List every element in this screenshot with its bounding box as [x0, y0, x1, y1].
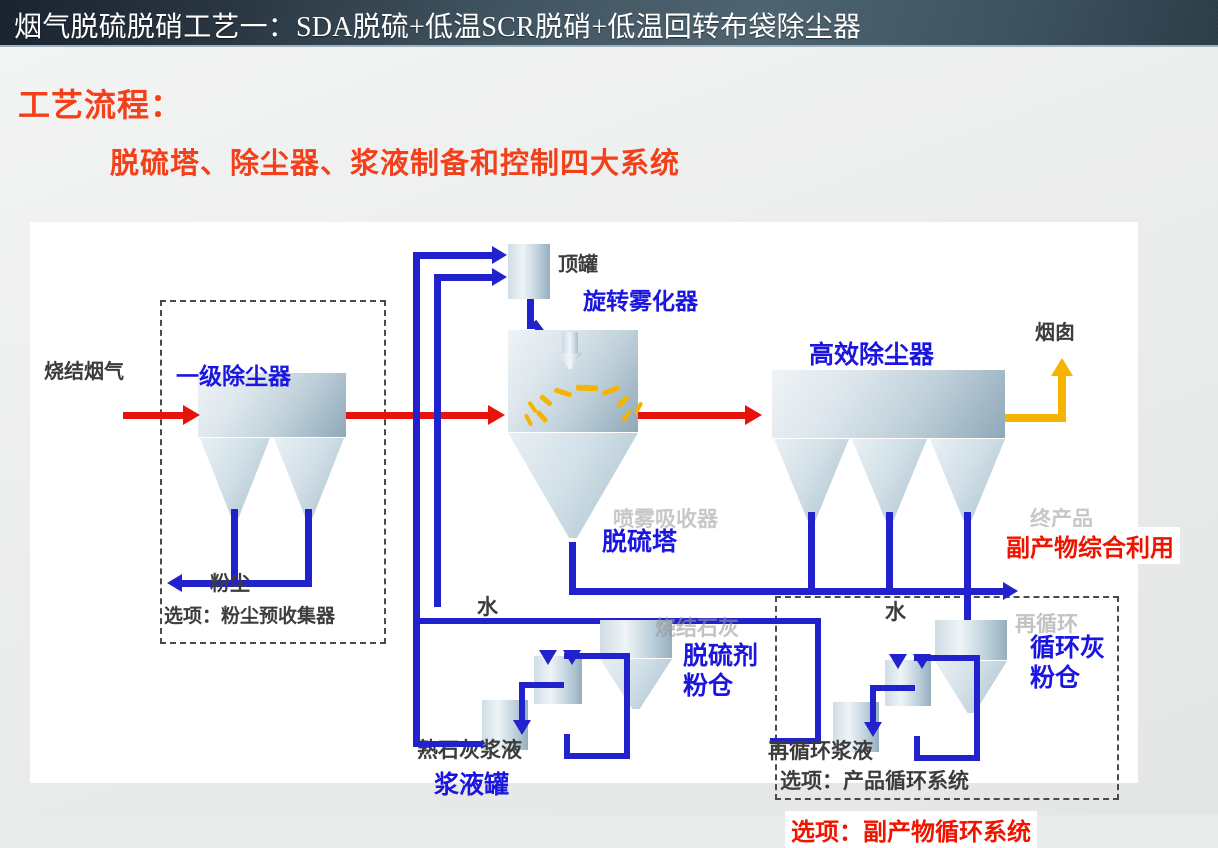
high-efficiency-collector-hopper-2: [852, 439, 927, 521]
ash-bus-riser-tower: [569, 542, 576, 592]
label-slurry-tank: 浆液罐: [434, 765, 509, 801]
label-rotary-atomizer: 旋转雾化器: [583, 282, 698, 316]
recycle-mixer-inflow-arrow-1-icon: [889, 654, 907, 669]
gas-to-tower-arrow-icon: [488, 405, 505, 425]
ash-bus-line: [569, 588, 1006, 595]
label-head-tank: 顶罐: [558, 248, 598, 277]
desulfurizer-silo-cone: [600, 659, 672, 709]
high-efficiency-collector-hopper-1: [774, 439, 849, 521]
label-primary-dust-collector: 一级除尘器: [176, 357, 291, 391]
label-desulfurization-tower: 脱硫塔: [602, 522, 677, 558]
silo-discharge-hook: [564, 734, 570, 759]
gas-to-collector-arrow-icon: [745, 405, 762, 425]
label-dust: 粉尘: [210, 567, 250, 596]
ash-leg-1: [808, 512, 815, 595]
slide-body: 工艺流程： 脱硫塔、除尘器、浆液制备和控制四大系统 烧结烟气 一级除尘器 粉尘 …: [0, 47, 1218, 815]
ash-leg-3: [964, 512, 971, 595]
head-tank-body: [508, 244, 550, 299]
stack-riser-line: [1058, 375, 1066, 422]
label-stack: 烟囱: [1035, 316, 1075, 345]
label-recycle-ash-silo-line2: 粉仓: [1030, 658, 1080, 694]
recycle-slurry-return-riser: [815, 618, 821, 744]
label-option-product-recycle: 选项：产品循环系统: [780, 765, 969, 795]
inlet-gas-arrow-icon: [183, 405, 200, 425]
label-desulfurizer-silo-line2: 粉仓: [683, 666, 733, 702]
process-flow-diagram: 烧结烟气 一级除尘器 粉尘 选项：粉尘预收集器 顶罐 旋转雾化器: [30, 222, 1138, 783]
option-frame-pre-collector: [160, 300, 386, 644]
stack-arrow-icon: [1051, 358, 1073, 376]
label-inlet-gas: 烧结烟气: [44, 355, 124, 384]
ash-leg-2: [886, 512, 893, 595]
mixer-inflow-arrow-1-icon: [539, 650, 557, 665]
silo-discharge-bottom: [564, 753, 630, 759]
head-tank-feed-upper-arrow-icon: [492, 246, 507, 264]
recycle-silo-discharge-top: [914, 655, 980, 661]
recycle-slurry-return-line: [743, 618, 821, 624]
head-tank-feed-line-lower: [434, 274, 495, 281]
label-water-right: 水: [885, 596, 906, 626]
page-subtitle: 脱硫塔、除尘器、浆液制备和控制四大系统: [110, 140, 680, 182]
recycle-mixer-to-slurry-line: [870, 685, 915, 691]
atomizer-nozzle-icon: [562, 332, 578, 354]
recycle-ash-silo-body: [935, 620, 1007, 660]
mixer-to-slurry-line: [519, 682, 564, 688]
inlet-gas-line: [123, 412, 185, 419]
mixer-to-slurry-drop: [519, 682, 525, 724]
spray-dash: [576, 385, 598, 392]
recycle-silo-discharge-bottom: [914, 755, 980, 761]
dust-leg-2: [305, 509, 312, 587]
label-slaked-lime-slurry: 熟石灰浆液: [417, 734, 522, 764]
head-tank-feed-line-upper: [413, 252, 495, 259]
label-high-efficiency-collector: 高效除尘器: [809, 335, 934, 371]
silo-discharge-riser: [624, 653, 630, 759]
label-option-pre-collector: 选项：粉尘预收集器: [164, 601, 335, 628]
page-title: 工艺流程：: [18, 80, 183, 126]
recycle-silo-discharge-riser: [974, 655, 980, 761]
ash-bus-arrow-icon: [1003, 582, 1018, 600]
mixer-to-slurry-arrow-icon: [513, 720, 531, 735]
recycle-mixer-to-slurry-drop: [870, 685, 876, 727]
recycle-silo-discharge-hook: [914, 736, 920, 761]
dust-out-arrow-icon: [167, 574, 182, 592]
high-efficiency-collector-hopper-3: [930, 439, 1005, 521]
riser-from-slurry-tank: [413, 252, 420, 747]
window-title: 烟气脱硫脱硝工艺一：SDA脱硫+低温SCR脱硝+低温回转布袋除尘器: [14, 5, 861, 45]
clean-gas-line: [1005, 414, 1065, 422]
silo-discharge-top: [564, 653, 630, 659]
label-recirculated-slurry: 再循环浆液: [768, 735, 873, 765]
riser-from-desulfurizer-silo: [434, 274, 441, 607]
slurry-tank-outlet-line: [413, 741, 483, 747]
head-tank-feed-lower-arrow-icon: [492, 268, 507, 286]
label-water-left: 水: [477, 591, 498, 621]
gas-line-tower-to-collector: [638, 412, 748, 419]
label-option-byproduct-recycle: 选项：副产物循环系统: [785, 811, 1037, 848]
label-byproduct-utilization: 副产物综合利用: [1000, 527, 1180, 564]
window-title-bar: 烟气脱硫脱硝工艺一：SDA脱硫+低温SCR脱硝+低温回转布袋除尘器: [0, 0, 1218, 47]
high-efficiency-collector-body: [772, 370, 1005, 438]
